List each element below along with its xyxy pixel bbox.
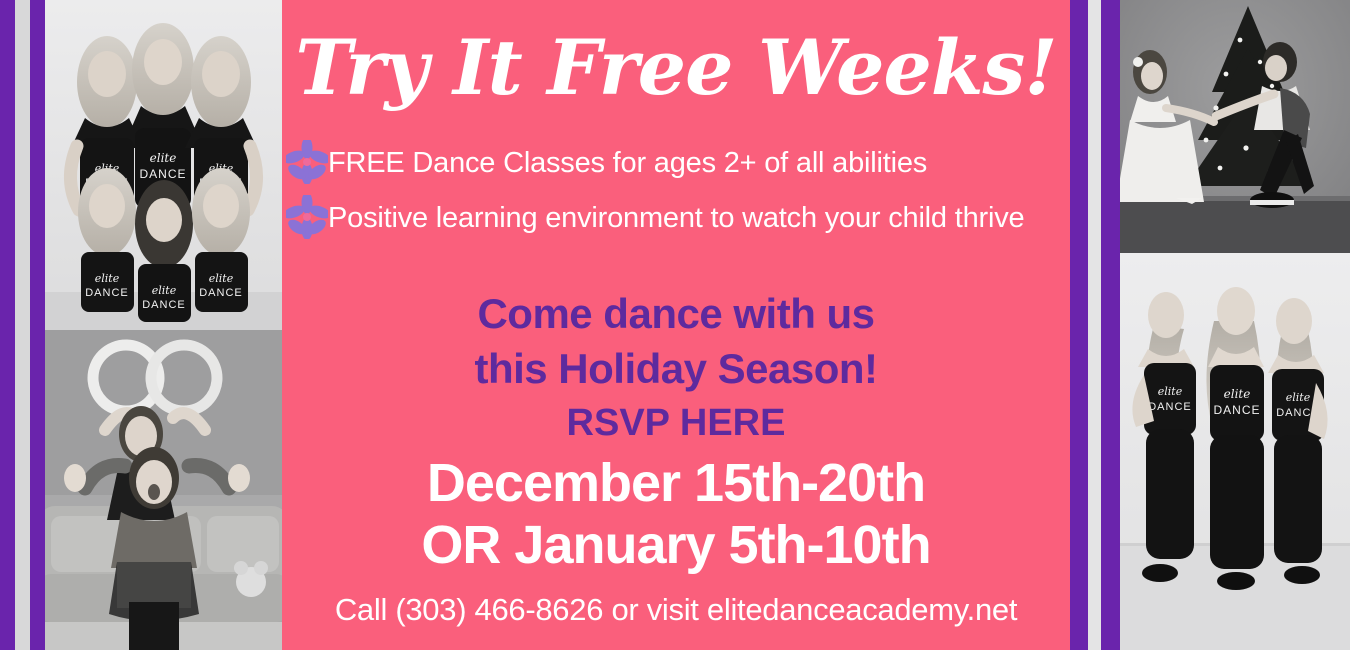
svg-text:elite: elite <box>1224 387 1251 401</box>
svg-text:elite: elite <box>1158 385 1183 398</box>
photo-top-right <box>1120 0 1350 253</box>
flower-icon <box>286 140 328 184</box>
callout-block: Come dance with us this Holiday Season! … <box>282 286 1070 451</box>
svg-text:DANCE: DANCE <box>1148 401 1192 413</box>
svg-text:elite: elite <box>152 284 177 297</box>
contact-line[interactable]: Call (303) 466-8626 or visit elitedancea… <box>282 592 1070 628</box>
headline: Try It Free Weeks! <box>282 30 1070 106</box>
right-accent-stripe-outer <box>1101 0 1120 650</box>
flower-icon <box>286 195 328 239</box>
svg-text:DANCE: DANCE <box>199 287 243 299</box>
callout-line-1: Come dance with us <box>282 286 1070 341</box>
left-accent-stripe-outer <box>0 0 15 650</box>
photo-bottom-left <box>45 330 282 650</box>
left-accent-stripe-gap <box>15 0 30 650</box>
callout-line-2: this Holiday Season! <box>282 341 1070 396</box>
svg-text:elite: elite <box>95 272 120 285</box>
svg-text:elite: elite <box>1286 391 1311 404</box>
left-accent-stripe-inner <box>30 0 45 650</box>
svg-text:elite: elite <box>209 272 234 285</box>
right-accent-stripe-gap <box>1088 0 1101 650</box>
pink-content-panel: Try It Free Weeks! <box>282 0 1070 650</box>
right-accent-stripe-inner <box>1070 0 1088 650</box>
svg-text:DANCE: DANCE <box>142 299 186 311</box>
date-line-1: December 15th-20th <box>282 452 1070 514</box>
svg-text:DANCE: DANCE <box>85 287 129 299</box>
bullet-item: FREE Dance Classes for ages 2+ of all ab… <box>282 138 1070 189</box>
bullet-text: FREE Dance Classes for ages 2+ of all ab… <box>328 138 1070 189</box>
rsvp-here-link[interactable]: RSVP HERE <box>282 396 1070 451</box>
bullet-item: Positive learning environment to watch y… <box>282 193 1070 244</box>
date-line-2: OR January 5th-10th <box>282 514 1070 576</box>
svg-text:DANCE: DANCE <box>139 167 186 181</box>
photo-bottom-right: elite DANCE elite DANCE <box>1120 253 1350 650</box>
svg-text:DANCE: DANCE <box>1213 403 1260 417</box>
svg-text:elite: elite <box>150 151 177 165</box>
promo-banner: elite DANCE elite DANCE elite DANCE <box>0 0 1350 650</box>
bullet-text: Positive learning environment to watch y… <box>328 193 1070 244</box>
bullet-list: FREE Dance Classes for ages 2+ of all ab… <box>282 138 1070 248</box>
dates-block: December 15th-20th OR January 5th-10th <box>282 452 1070 576</box>
photo-top-left: elite DANCE elite DANCE elite DANCE <box>45 0 282 330</box>
